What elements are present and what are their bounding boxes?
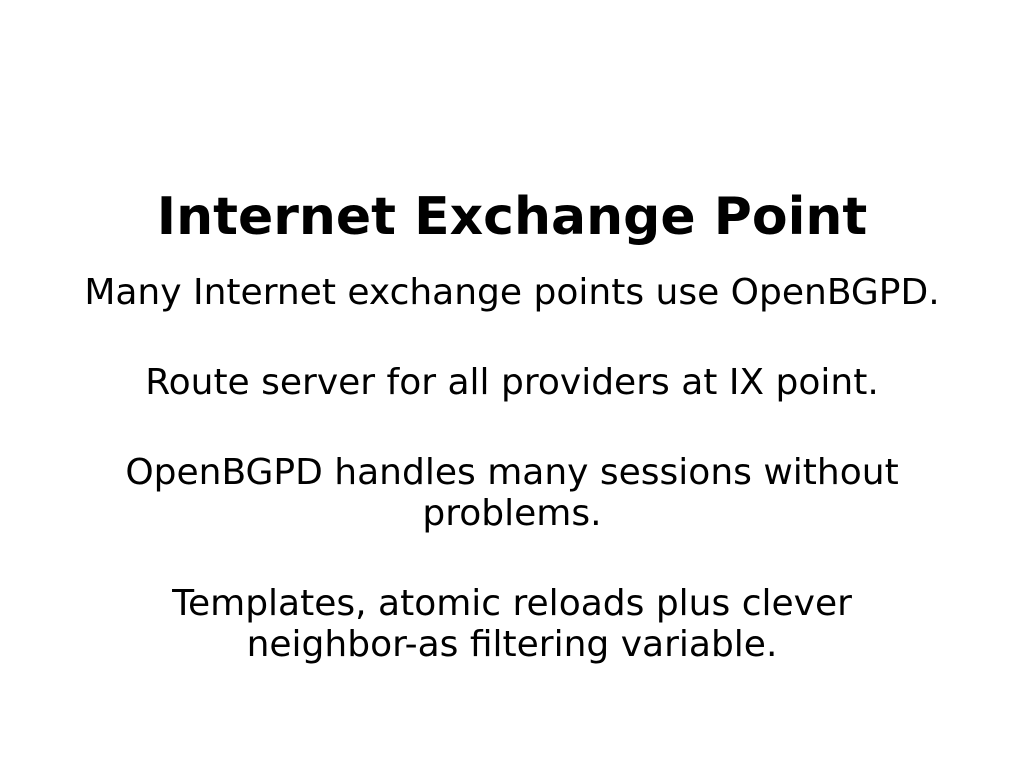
slide-body: Many Internet exchange points use OpenBG… [52,272,972,665]
body-line: Route server for all providers at IX poi… [52,362,972,403]
body-line: OpenBGPD handles many sessions without p… [52,452,972,534]
body-line: Many Internet exchange points use OpenBG… [52,272,972,313]
presentation-slide: Internet Exchange Point Many Internet ex… [0,0,1024,768]
body-line: Templates, atomic reloads plus clever ne… [82,583,942,665]
slide-title: Internet Exchange Point [0,187,1024,247]
